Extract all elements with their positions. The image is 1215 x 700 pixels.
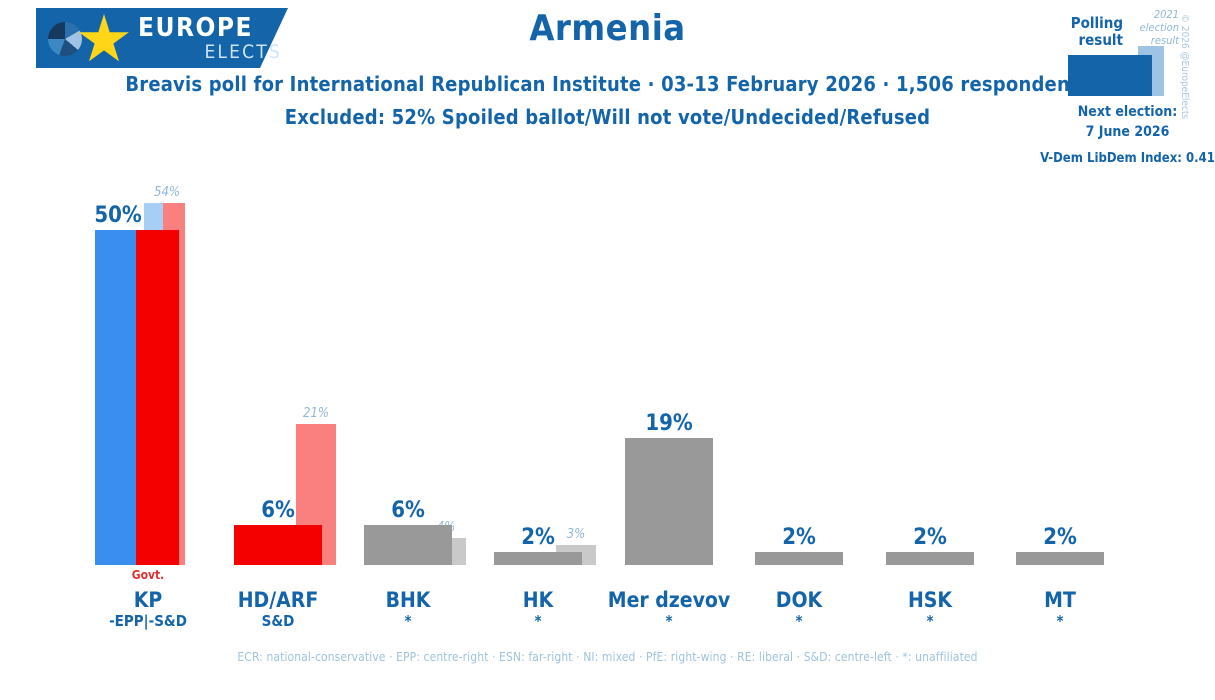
bar-value-label: 50% <box>88 203 148 228</box>
poll-subtitle: Breavis poll for International Republica… <box>0 72 1215 96</box>
bar-value-label: 2% <box>494 525 582 550</box>
affiliation-legend: ECR: national-conservative · EPP: centre… <box>0 650 1215 664</box>
page-title: Armenia <box>0 8 1215 49</box>
x-axis-party-name: MT <box>960 588 1160 612</box>
bar-polling-result <box>364 525 452 565</box>
bar-value-label: 6% <box>364 498 452 523</box>
bar-value-label: 2% <box>755 525 843 550</box>
previous-result-value-label: 54% <box>144 185 190 200</box>
bar-group: 2% <box>980 150 1140 565</box>
bar-polling-result <box>234 525 322 565</box>
legend-swatch-polling-result <box>1068 55 1152 96</box>
bar-polling-result-b <box>136 230 179 565</box>
bar-value-label: 2% <box>1016 525 1104 550</box>
bar-value-label: 6% <box>234 498 322 523</box>
bar-chart-plot-area: 50%54%21%6%4%6%3%2%19%2%2%2% <box>0 150 1215 565</box>
legend-previous-result-line1: 2021 <box>1154 8 1179 21</box>
next-election-date: 7 June 2026 <box>1040 124 1215 140</box>
excluded-note: Excluded: 52% Spoiled ballot/Will not vo… <box>0 105 1215 129</box>
bar-polling-result-a <box>95 230 136 565</box>
legend-polling-result-line1: Polling <box>1071 14 1123 32</box>
x-axis-party-affiliation: * <box>960 612 1160 630</box>
legend-polling-result-label: Polling result <box>1043 15 1123 49</box>
legend-previous-result-line2: election <box>1140 21 1179 34</box>
bar-value-label: 2% <box>886 525 974 550</box>
bar-polling-result <box>625 438 713 565</box>
x-axis-tick-mt: MT* <box>960 588 1160 630</box>
legend-polling-result-line2: result <box>1078 31 1123 49</box>
next-election-label: Next election: <box>1040 104 1215 120</box>
x-axis-labels: KP-EPP|-S&DGovt.HD/ARFS&DBHK*HK*Mer dzev… <box>0 560 1215 640</box>
bar-value-label: 19% <box>625 411 713 436</box>
legend-previous-result-label: 2021 election result <box>1127 8 1179 47</box>
government-marker: Govt. <box>88 568 208 582</box>
